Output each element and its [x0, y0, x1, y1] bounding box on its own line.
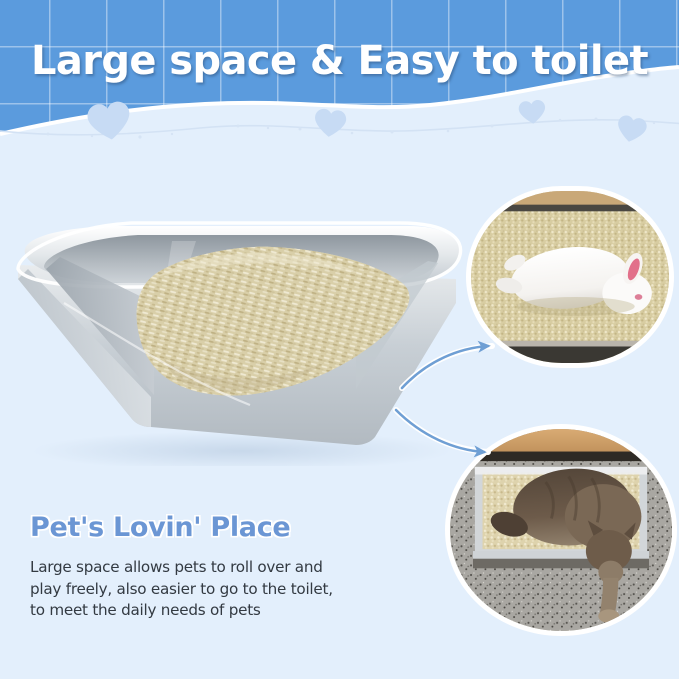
cat-inset [445, 424, 677, 636]
rabbit-inset [466, 186, 674, 368]
rabbit-photo [471, 191, 669, 363]
cat-photo [450, 429, 672, 631]
page-title: Large space & Easy to toilet [0, 38, 679, 84]
product-photo-litter-box [4, 183, 468, 466]
box-frame-bottom [471, 346, 669, 363]
caption-body-line-2: play freely, also easier to go to the to… [30, 579, 450, 601]
caption-block: Pet's Lovin' Place Large space allows pe… [30, 512, 450, 622]
caption-body: Large space allows pets to roll over and… [30, 557, 450, 622]
wood-floor-strip [471, 191, 669, 207]
product-shadow [32, 431, 452, 466]
caption-body-line-3: to meet the daily needs of pets [30, 600, 450, 622]
header-banner: Large space & Easy to toilet [0, 0, 679, 172]
caption-heading: Pet's Lovin' Place [30, 512, 450, 543]
marketing-infographic: Large space & Easy to toilet [0, 0, 679, 679]
caption-body-line-1: Large space allows pets to roll over and [30, 557, 450, 579]
cat-paw [598, 609, 619, 622]
